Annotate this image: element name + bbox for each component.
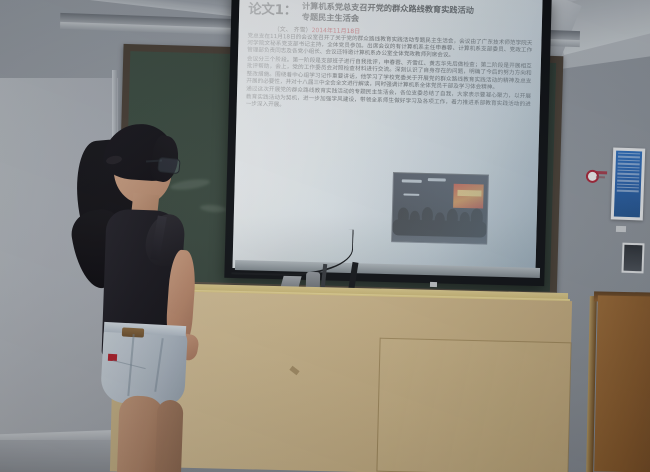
notice-text-line bbox=[617, 173, 639, 175]
classroom-photo: 论文1： 计算机系党总支召开党的群众路线教育实践活动专题民主生活会 （文、 齐雪… bbox=[0, 0, 650, 472]
notice-text-line bbox=[618, 159, 640, 161]
podium-cabinet-door[interactable] bbox=[376, 338, 571, 472]
notice-text-line bbox=[618, 156, 640, 158]
notice-text-line bbox=[617, 190, 639, 192]
emblem-text-line bbox=[596, 176, 605, 178]
notice-text-line bbox=[618, 166, 640, 168]
notice-text-line bbox=[617, 183, 639, 185]
podium-small-object bbox=[430, 282, 437, 287]
notice-text-line bbox=[618, 163, 640, 165]
notice-tab bbox=[616, 226, 626, 232]
school-emblem bbox=[586, 170, 606, 182]
glasses-icon bbox=[157, 157, 180, 174]
denim-shorts bbox=[100, 324, 188, 406]
notice-text-line bbox=[617, 187, 639, 189]
notice-text-line bbox=[617, 180, 639, 182]
emblem-text-line bbox=[596, 171, 607, 174]
leg bbox=[154, 400, 183, 472]
notice-text-line bbox=[618, 153, 640, 155]
wooden-desk bbox=[594, 295, 650, 472]
blue-notice-board bbox=[614, 151, 642, 218]
podium-device bbox=[306, 272, 320, 288]
small-poster bbox=[624, 245, 643, 272]
notice-text-line bbox=[617, 170, 639, 172]
standing-presenter bbox=[60, 118, 210, 472]
notice-text-line bbox=[617, 176, 639, 178]
